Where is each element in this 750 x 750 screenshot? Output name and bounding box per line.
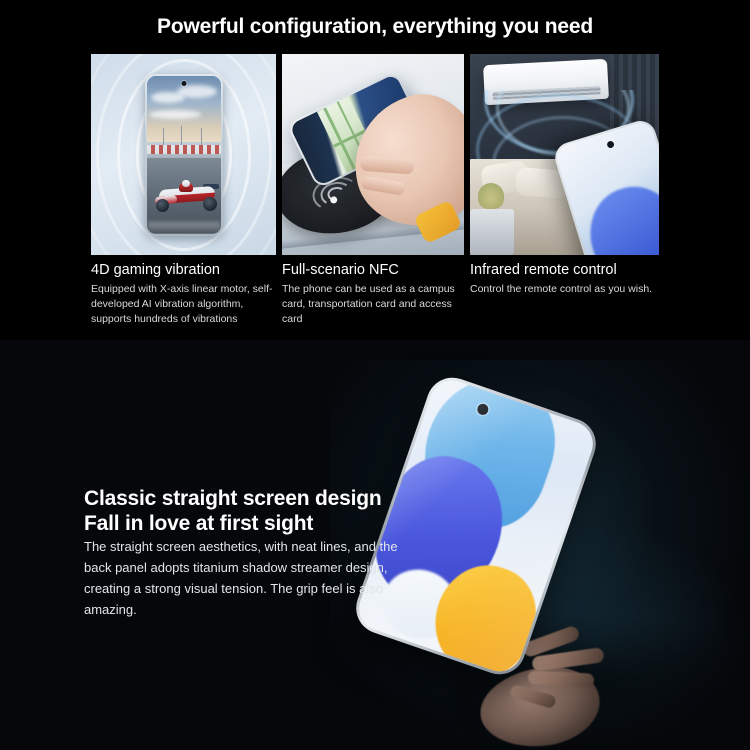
hero-heading: Classic straight screen design Fall in l…	[84, 487, 381, 536]
hero-heading-line2: Fall in love at first sight	[84, 512, 381, 537]
nfc-finger-1	[360, 156, 415, 175]
feature-card-vibration[interactable]	[91, 54, 276, 255]
driver-helmet	[182, 180, 190, 187]
feature-card-nfc[interactable]	[282, 54, 464, 255]
car-rear-wheel	[203, 197, 217, 211]
pole-1	[163, 128, 164, 146]
caption-desc: Equipped with X-axis linear motor, self-…	[91, 282, 276, 327]
cloud-2	[177, 85, 217, 98]
pole-3	[201, 128, 202, 146]
caption-title: 4D gaming vibration	[91, 261, 276, 279]
caption-vibration: 4D gaming vibration Equipped with X-axis…	[91, 261, 276, 327]
feature-card-infrared[interactable]	[470, 54, 659, 255]
front-camera-icon	[181, 81, 186, 86]
caption-infrared: Infrared remote control Control the remo…	[470, 261, 659, 327]
front-camera-icon	[606, 140, 615, 149]
vibration-phone	[145, 74, 223, 236]
motion-blur	[147, 222, 221, 234]
caption-nfc: Full-scenario NFC The phone can be used …	[282, 261, 464, 327]
wallpaper-blob	[579, 176, 659, 255]
feature-caption-row: 4D gaming vibration Equipped with X-axis…	[91, 261, 659, 327]
cloud-3	[149, 110, 201, 119]
caption-desc: The phone can be used as a campus card, …	[282, 282, 464, 327]
caption-desc: Control the remote control as you wish.	[470, 282, 659, 297]
hero-heading-line1: Classic straight screen design	[84, 487, 381, 512]
feature-image-row	[91, 54, 659, 255]
vibration-image	[91, 54, 276, 255]
features-section: Powerful configuration, everything you n…	[0, 0, 750, 340]
plant	[478, 183, 504, 209]
vibration-phone-screen	[147, 76, 221, 234]
page-title: Powerful configuration, everything you n…	[0, 15, 750, 39]
pole-2	[181, 126, 182, 146]
caption-title: Full-scenario NFC	[282, 261, 464, 279]
race-car	[153, 176, 219, 214]
nightstand	[470, 209, 514, 255]
hero-description: The straight screen aesthetics, with nea…	[84, 536, 404, 620]
nfc-image	[282, 54, 464, 255]
nfc-finger-2	[360, 175, 406, 195]
infrared-image	[470, 54, 659, 255]
car-front-wheel	[156, 199, 169, 212]
track-barrier	[147, 145, 221, 154]
caption-title: Infrared remote control	[470, 261, 659, 279]
